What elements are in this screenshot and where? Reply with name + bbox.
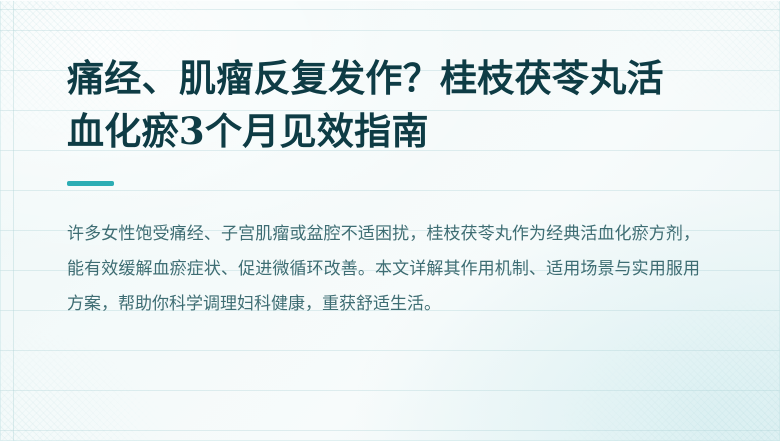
page-title: 痛经、肌瘤反复发作？桂枝茯苓丸活血化瘀3个月见效指南 <box>67 0 700 159</box>
article-hero-card: 痛经、肌瘤反复发作？桂枝茯苓丸活血化瘀3个月见效指南 许多女性饱受痛经、子宫肌瘤… <box>0 0 780 441</box>
card-content: 痛经、肌瘤反复发作？桂枝茯苓丸活血化瘀3个月见效指南 许多女性饱受痛经、子宫肌瘤… <box>0 0 780 441</box>
article-summary: 许多女性饱受痛经、子宫肌瘤或盆腔不适困扰，桂枝茯苓丸作为经典活血化瘀方剂，能有效… <box>67 186 700 321</box>
